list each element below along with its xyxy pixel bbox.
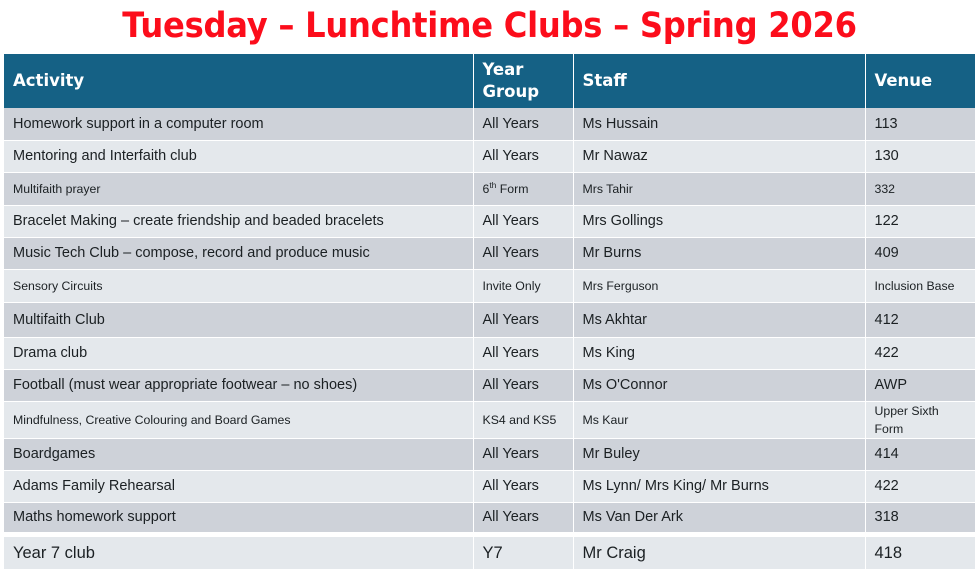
cell-activity: Year 7 club (4, 534, 473, 569)
cell-staff: Ms Akhtar (573, 302, 865, 337)
cell-activity: Mindfulness, Creative Colouring and Boar… (4, 401, 473, 438)
cell-year-group: All Years (473, 438, 573, 470)
column-header-year-group-line2: Group (483, 81, 564, 103)
cell-venue: 332 (865, 172, 975, 205)
cell-activity: Multifaith Club (4, 302, 473, 337)
cell-year-group: Y7 (473, 534, 573, 569)
cell-activity: Mentoring and Interfaith club (4, 140, 473, 172)
table-row: Sensory CircuitsInvite OnlyMrs FergusonI… (4, 269, 975, 302)
cell-activity: Football (must wear appropriate footwear… (4, 369, 473, 401)
cell-venue: Upper Sixth Form (865, 401, 975, 438)
cell-activity: Drama club (4, 337, 473, 369)
column-header-staff-label: Staff (583, 70, 856, 92)
table-row: Football (must wear appropriate footwear… (4, 369, 975, 401)
cell-staff: Mrs Ferguson (573, 269, 865, 302)
cell-venue: 422 (865, 337, 975, 369)
cell-year-group: All Years (473, 337, 573, 369)
cell-activity: Multifaith prayer (4, 172, 473, 205)
cell-activity: Adams Family Rehearsal (4, 470, 473, 502)
cell-staff: Mrs Tahir (573, 172, 865, 205)
column-header-year-group: Year Group (473, 54, 573, 108)
column-header-staff: Staff (573, 54, 865, 108)
cell-year-group: Invite Only (473, 269, 573, 302)
table-row: Mindfulness, Creative Colouring and Boar… (4, 401, 975, 438)
cell-activity: Sensory Circuits (4, 269, 473, 302)
cell-year-group: 6th Form (473, 172, 573, 205)
cell-staff: Ms Van Der Ark (573, 502, 865, 534)
cell-staff: Ms O'Connor (573, 369, 865, 401)
cell-venue: 418 (865, 534, 975, 569)
cell-year-group: All Years (473, 369, 573, 401)
page-title: Tuesday – Lunchtime Clubs – Spring 2026 (39, 4, 940, 48)
cell-staff: Mr Burns (573, 237, 865, 269)
cell-venue: 122 (865, 205, 975, 237)
cell-staff: Mr Craig (573, 534, 865, 569)
table-row: Year 7 clubY7Mr Craig418 (4, 534, 975, 569)
column-header-activity-label: Activity (13, 70, 464, 92)
table-row: Maths homework supportAll YearsMs Van De… (4, 502, 975, 534)
table-header: Activity Year Group Staff Venue (4, 54, 975, 108)
table-row: BoardgamesAll YearsMr Buley414 (4, 438, 975, 470)
cell-venue: AWP (865, 369, 975, 401)
slide: Tuesday – Lunchtime Clubs – Spring 2026 … (0, 0, 979, 551)
table-row: Homework support in a computer roomAll Y… (4, 108, 975, 140)
cell-staff: Ms Kaur (573, 401, 865, 438)
cell-venue: Inclusion Base (865, 269, 975, 302)
cell-venue: 412 (865, 302, 975, 337)
table-body: Homework support in a computer roomAll Y… (4, 108, 975, 569)
cell-venue: 113 (865, 108, 975, 140)
table-row: Multifaith prayer6th FormMrs Tahir332 (4, 172, 975, 205)
table-row: Adams Family RehearsalAll YearsMs Lynn/ … (4, 470, 975, 502)
cell-year-group: All Years (473, 140, 573, 172)
table-row: Bracelet Making – create friendship and … (4, 205, 975, 237)
table-row: Multifaith ClubAll YearsMs Akhtar412 (4, 302, 975, 337)
cell-staff: Mr Buley (573, 438, 865, 470)
table-row: Music Tech Club – compose, record and pr… (4, 237, 975, 269)
cell-staff: Mrs Gollings (573, 205, 865, 237)
cell-year-group: All Years (473, 205, 573, 237)
cell-venue: 422 (865, 470, 975, 502)
column-header-activity: Activity (4, 54, 473, 108)
cell-activity: Bracelet Making – create friendship and … (4, 205, 473, 237)
cell-year-group: All Years (473, 470, 573, 502)
lunchtime-clubs-table: Activity Year Group Staff Venue Homework… (4, 54, 975, 570)
cell-venue: 130 (865, 140, 975, 172)
cell-staff: Ms Lynn/ Mrs King/ Mr Burns (573, 470, 865, 502)
cell-year-group: All Years (473, 302, 573, 337)
cell-year-group: All Years (473, 108, 573, 140)
table-row: Drama clubAll YearsMs King422 (4, 337, 975, 369)
column-header-venue: Venue (865, 54, 975, 108)
column-header-year-group-line1: Year (483, 59, 564, 81)
cell-venue: 409 (865, 237, 975, 269)
year-group-tail: Form (496, 182, 528, 196)
column-header-venue-label: Venue (875, 70, 967, 92)
cell-staff: Ms King (573, 337, 865, 369)
cell-venue: 414 (865, 438, 975, 470)
table-header-row: Activity Year Group Staff Venue (4, 54, 975, 108)
table-row: Mentoring and Interfaith clubAll YearsMr… (4, 140, 975, 172)
cell-staff: Ms Hussain (573, 108, 865, 140)
cell-year-group: All Years (473, 237, 573, 269)
cell-staff: Mr Nawaz (573, 140, 865, 172)
cell-activity: Boardgames (4, 438, 473, 470)
cell-year-group: KS4 and KS5 (473, 401, 573, 438)
cell-year-group: All Years (473, 502, 573, 534)
cell-activity: Music Tech Club – compose, record and pr… (4, 237, 473, 269)
cell-activity: Homework support in a computer room (4, 108, 473, 140)
cell-venue: 318 (865, 502, 975, 534)
cell-activity: Maths homework support (4, 502, 473, 534)
